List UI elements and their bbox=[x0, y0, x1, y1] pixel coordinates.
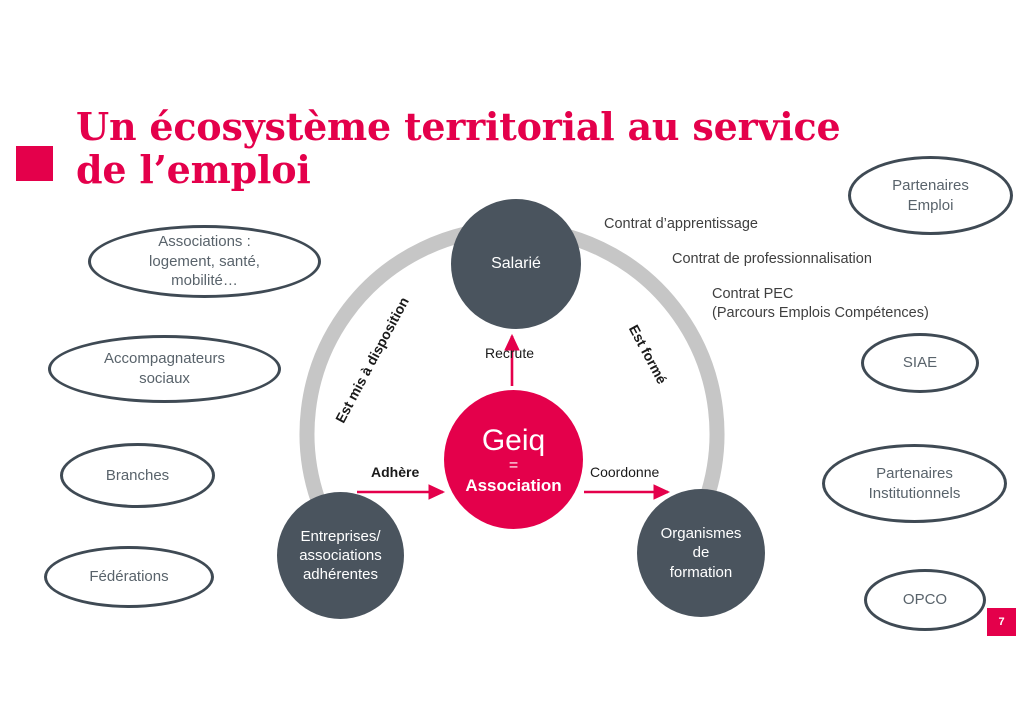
partner-partenaires-emploi[interactable]: Partenaires Emploi bbox=[848, 156, 1013, 235]
node-geiq-center[interactable]: Geiq = Association bbox=[444, 390, 583, 529]
geiq-kind-label: Association bbox=[465, 477, 561, 494]
node-salarie-label: Salarié bbox=[491, 255, 541, 273]
arrow-label-adhere: Adhère bbox=[371, 464, 419, 481]
partner-branches[interactable]: Branches bbox=[60, 443, 215, 508]
node-entreprises-label: Entreprises/ associations adhérentes bbox=[299, 527, 382, 585]
partner-associations-label: Associations : logement, santé, mobilité… bbox=[149, 232, 260, 291]
geiq-name-label: Geiq bbox=[482, 426, 545, 456]
partner-associations[interactable]: Associations : logement, santé, mobilité… bbox=[88, 225, 321, 298]
contract-label-apprentissage: Contrat d’apprentissage bbox=[604, 215, 758, 234]
contract-label-professionnalisation: Contrat de professionnalisation bbox=[672, 250, 872, 269]
partner-accompagnateurs[interactable]: Accompagnateurs sociaux bbox=[48, 335, 281, 403]
slide-canvas: Un écosystème territorial au service de … bbox=[0, 0, 1024, 724]
partner-partenaires-emploi-label: Partenaires Emploi bbox=[892, 176, 969, 216]
partner-siae-label: SIAE bbox=[903, 353, 937, 373]
geiq-equals-label: = bbox=[509, 458, 518, 474]
page-number-badge: 7 bbox=[987, 608, 1016, 636]
partner-partenaires-institutionnels-label: Partenaires Institutionnels bbox=[869, 464, 961, 504]
node-entreprises[interactable]: Entreprises/ associations adhérentes bbox=[277, 492, 404, 619]
partner-siae[interactable]: SIAE bbox=[861, 333, 979, 393]
node-salarie[interactable]: Salarié bbox=[451, 199, 581, 329]
arrow-label-recrute: Recrute bbox=[485, 345, 534, 362]
partner-branches-label: Branches bbox=[106, 466, 169, 486]
node-organismes[interactable]: Organismes de formation bbox=[637, 489, 765, 617]
partner-accompagnateurs-label: Accompagnateurs sociaux bbox=[104, 349, 225, 389]
partner-federations-label: Fédérations bbox=[89, 567, 168, 587]
partner-federations[interactable]: Fédérations bbox=[44, 546, 214, 608]
node-organismes-label: Organismes de formation bbox=[661, 524, 742, 582]
contract-label-pec: Contrat PEC (Parcours Emplois Compétence… bbox=[712, 285, 929, 323]
partner-opco[interactable]: OPCO bbox=[864, 569, 986, 631]
partner-opco-label: OPCO bbox=[903, 590, 947, 610]
arrow-label-coordonne: Coordonne bbox=[590, 464, 659, 481]
partner-partenaires-institutionnels[interactable]: Partenaires Institutionnels bbox=[822, 444, 1007, 523]
